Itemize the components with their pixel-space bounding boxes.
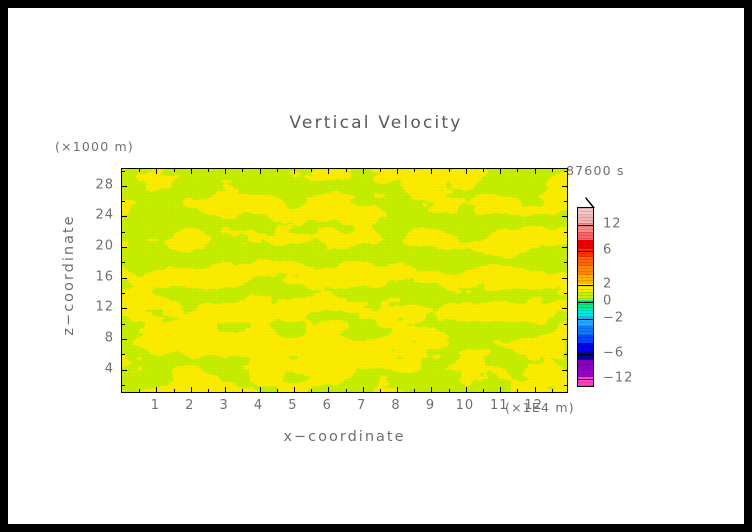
tick-mark (363, 387, 364, 392)
tick-mark (363, 169, 364, 174)
page-title: Vertical Velocity (8, 113, 744, 133)
colorbar-stripe (578, 211, 593, 212)
colorbar-stripe (578, 373, 593, 374)
colorbar-stripe (578, 280, 593, 281)
tick-mark (122, 324, 125, 325)
colorbar-stripe (578, 328, 593, 329)
colorbar-stripe (578, 220, 593, 221)
x-tick-label: 2 (185, 398, 194, 413)
x-tick-label: 1 (151, 398, 160, 413)
tick-mark (122, 370, 127, 371)
y-tick-label: 4 (86, 361, 114, 376)
tick-mark (294, 169, 295, 174)
colorbar-stripe (578, 271, 593, 272)
tick-mark (208, 169, 209, 172)
tick-mark (517, 169, 518, 172)
colorbar-level-line (578, 319, 593, 320)
colorbar-stripe (578, 235, 593, 236)
tick-mark (564, 232, 567, 233)
colorbar-tick-label: 2 (603, 277, 612, 292)
colorbar-stripe (578, 298, 593, 299)
x-tick-label: 6 (323, 398, 332, 413)
tick-mark (466, 387, 467, 392)
colorbar-level-line (578, 302, 593, 303)
colorbar-stripe (578, 340, 593, 341)
tick-mark (397, 387, 398, 392)
tick-mark (562, 216, 567, 217)
colorbar-stripe (578, 262, 593, 263)
tick-mark (380, 169, 381, 172)
y-axis-title: z−coordinate (61, 195, 77, 355)
colorbar-stripe (578, 265, 593, 266)
colorbar-stripe (578, 217, 593, 218)
tick-mark (311, 169, 312, 172)
y-tick-label: 12 (86, 300, 114, 315)
tick-mark (564, 171, 567, 172)
tick-mark (552, 389, 553, 392)
tick-mark (328, 169, 329, 174)
colorbar-level-line (578, 379, 593, 380)
tick-mark (225, 387, 226, 392)
x-tick-label: 12 (524, 398, 543, 413)
tick-mark (562, 186, 567, 187)
tick-mark (122, 308, 127, 309)
tick-mark (294, 387, 295, 392)
tick-mark (414, 389, 415, 392)
colorbar-stripe (578, 256, 593, 257)
y-tick-label: 16 (86, 269, 114, 284)
tick-mark (122, 232, 125, 233)
tick-mark (449, 389, 450, 392)
x-tick-label: 3 (220, 398, 229, 413)
x-tick-label: 10 (456, 398, 475, 413)
tick-mark (191, 169, 192, 174)
tick-mark (431, 169, 432, 174)
tick-mark (562, 278, 567, 279)
x-tick-label: 7 (357, 398, 366, 413)
colorbar-stripe (578, 253, 593, 254)
colorbar-stripe (578, 295, 593, 296)
colorbar-level-line (578, 285, 593, 286)
x-tick-label: 8 (391, 398, 400, 413)
tick-mark (535, 387, 536, 392)
colorbar-stripe (578, 337, 593, 338)
tick-mark (564, 201, 567, 202)
colorbar-stripe (578, 208, 593, 209)
tick-mark (431, 387, 432, 392)
tick-mark (500, 169, 501, 174)
tick-mark (122, 171, 125, 172)
figure-canvas: Vertical Velocity (×1000 m) (×1E4 m) 876… (8, 8, 744, 524)
tick-mark (139, 389, 140, 392)
tick-mark (483, 169, 484, 172)
colorbar-stripe (578, 274, 593, 275)
colorbar-band (578, 214, 593, 223)
colorbar-level-line (578, 225, 593, 226)
tick-mark (225, 169, 226, 174)
colorbar-stripe (578, 277, 593, 278)
colorbar-stripe (578, 283, 593, 284)
colorbar-tick-label: 12 (603, 217, 622, 232)
tick-mark (564, 262, 567, 263)
tick-mark (346, 169, 347, 172)
tick-mark (242, 389, 243, 392)
tick-mark (122, 247, 127, 248)
colorbar-stripe (578, 316, 593, 317)
colorbar-stripe (578, 358, 593, 359)
tick-mark (483, 389, 484, 392)
tick-mark (122, 339, 127, 340)
tick-mark (174, 389, 175, 392)
tick-mark (277, 389, 278, 392)
colorbar-stripe (578, 238, 593, 239)
colorbar-stripe (578, 289, 593, 290)
colorbar-tick-label: −2 (603, 311, 624, 326)
tick-mark (562, 370, 567, 371)
tick-mark (260, 387, 261, 392)
tick-mark (191, 387, 192, 392)
tick-mark (277, 169, 278, 172)
colorbar-stripe (578, 292, 593, 293)
colorbar-bands (577, 207, 594, 387)
colorbar-stripe (578, 385, 593, 386)
tick-mark (562, 308, 567, 309)
colorbar-stripe (578, 241, 593, 242)
tick-mark (122, 262, 125, 263)
y-tick-label: 8 (86, 330, 114, 345)
colorbar-stripe (578, 376, 593, 377)
x-tick-label: 4 (254, 398, 263, 413)
tick-mark (311, 389, 312, 392)
x-axis-title: x−coordinate (121, 429, 568, 445)
tick-mark (328, 387, 329, 392)
tick-mark (122, 216, 127, 217)
tick-mark (562, 339, 567, 340)
colorbar-stripe (578, 346, 593, 347)
colorbar-stripe (578, 259, 593, 260)
colorbar-stripe (578, 214, 593, 215)
x-tick-label: 11 (490, 398, 509, 413)
colorbar-stripe (578, 382, 593, 383)
colorbar-stripe (578, 223, 593, 224)
colorbar-stripe (578, 361, 593, 362)
colorbar-stripe (578, 355, 593, 356)
colorbar-level-line (578, 251, 593, 252)
colorbar-stripe (578, 349, 593, 350)
y-tick-label: 20 (86, 239, 114, 254)
colorbar-tick-label: −12 (603, 371, 633, 386)
colorbar-stripe (578, 229, 593, 230)
tick-mark (500, 387, 501, 392)
colorbar-band (578, 334, 593, 343)
tick-mark (564, 324, 567, 325)
colorbar-stripe (578, 325, 593, 326)
colorbar-stripe (578, 232, 593, 233)
y-tick-label: 28 (86, 177, 114, 192)
colorbar[interactable]: 12620−2−6−12 (577, 207, 594, 387)
tick-mark (122, 293, 125, 294)
colorbar-stripe (578, 304, 593, 305)
tick-mark (260, 169, 261, 174)
tick-mark (564, 293, 567, 294)
tick-mark (466, 169, 467, 174)
tick-mark (122, 186, 127, 187)
tick-mark (122, 278, 127, 279)
y-axis-unit-label: (×1000 m) (55, 139, 134, 154)
tick-mark (242, 169, 243, 172)
colorbar-stripe (578, 364, 593, 365)
colorbar-stripe (578, 370, 593, 371)
vertical-velocity-field (122, 169, 568, 393)
colorbar-stripe (578, 322, 593, 323)
colorbar-stripe (578, 307, 593, 308)
colorbar-band (578, 274, 593, 283)
x-tick-label: 9 (426, 398, 435, 413)
tick-mark (156, 387, 157, 392)
colorbar-stripe (578, 247, 593, 248)
colorbar-stripe (578, 310, 593, 311)
tick-mark (380, 389, 381, 392)
y-tick-label: 24 (86, 208, 114, 223)
colorbar-stripe (578, 286, 593, 287)
tick-mark (139, 169, 140, 172)
x-tick-label: 5 (288, 398, 297, 413)
tick-mark (564, 385, 567, 386)
tick-mark (414, 169, 415, 172)
tick-mark (552, 169, 553, 172)
colorbar-stripe (578, 313, 593, 314)
tick-mark (562, 247, 567, 248)
colorbar-stripe (578, 226, 593, 227)
tick-mark (122, 354, 125, 355)
tick-mark (449, 169, 450, 172)
tick-mark (122, 385, 125, 386)
tick-mark (122, 201, 125, 202)
colorbar-stripe (578, 244, 593, 245)
tick-mark (517, 389, 518, 392)
tick-mark (564, 354, 567, 355)
tick-mark (174, 169, 175, 172)
colorbar-stripe (578, 268, 593, 269)
tick-mark (156, 169, 157, 174)
colorbar-tick-label: −6 (603, 345, 624, 360)
time-annotation: 87600 s (566, 163, 625, 178)
colorbar-level-line (578, 354, 593, 355)
tick-mark (535, 169, 536, 174)
tick-mark (208, 389, 209, 392)
colorbar-stripe (578, 331, 593, 332)
contour-plot-area[interactable] (121, 168, 568, 393)
tick-mark (346, 389, 347, 392)
colorbar-stripe (578, 352, 593, 353)
colorbar-stripe (578, 367, 593, 368)
colorbar-stripe (578, 334, 593, 335)
colorbar-tick-label: 0 (603, 294, 612, 309)
colorbar-tick-label: 6 (603, 242, 612, 257)
tick-mark (397, 169, 398, 174)
colorbar-stripe (578, 343, 593, 344)
